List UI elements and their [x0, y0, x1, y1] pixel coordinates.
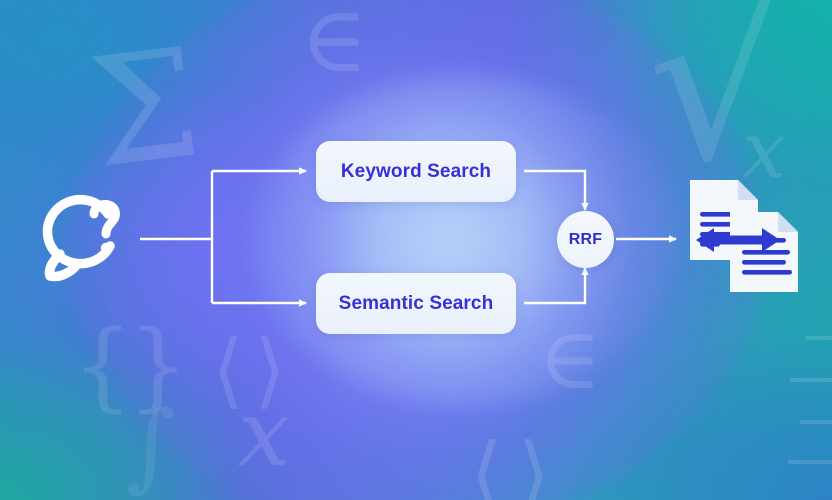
node-semantic-search-label: Semantic Search: [339, 293, 494, 315]
query-bubble-icon: [36, 192, 128, 291]
node-rrf-fusion[interactable]: RRF: [557, 211, 614, 268]
node-semantic-search[interactable]: Semantic Search: [316, 273, 516, 334]
flow-diagram: Keyword Search Semantic Search RRF: [0, 0, 832, 500]
node-rrf-fusion-label: RRF: [569, 231, 602, 249]
documents-exchange-icon: [684, 176, 800, 301]
edge-keyword-to-rrf: [524, 171, 585, 210]
hybrid-search-diagram: Σ ∈ √ x { } ⟨ ⟩ x ∈ ⟨ ⟩ ∫: [0, 0, 832, 500]
node-keyword-search[interactable]: Keyword Search: [316, 141, 516, 202]
node-keyword-search-label: Keyword Search: [341, 161, 491, 183]
edge-semantic-to-rrf: [524, 268, 585, 303]
